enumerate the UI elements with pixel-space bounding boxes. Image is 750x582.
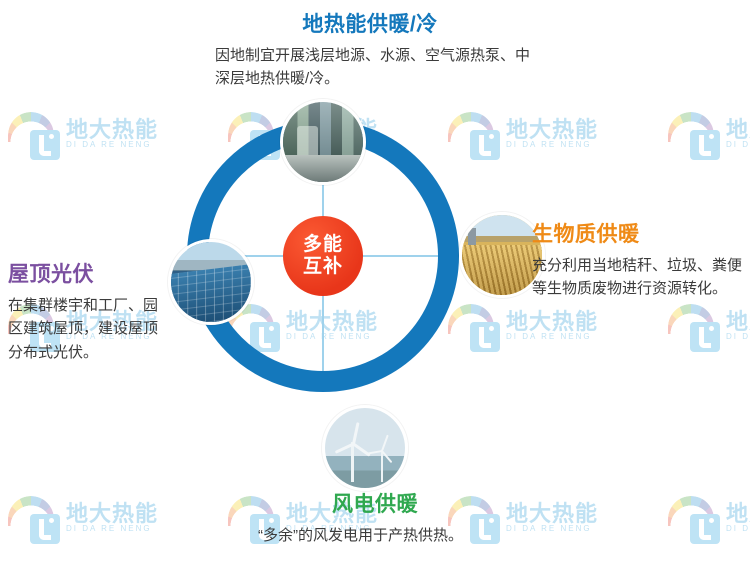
geothermal-plant-photo: [283, 102, 363, 182]
node-geothermal-photo[interactable]: [280, 99, 366, 185]
label-rooftop-pv-title: 屋顶光伏: [8, 258, 166, 288]
watermark-8: 地大热能DI DA RE NENG: [8, 492, 158, 544]
label-geothermal: 地热能供暖/冷 因地制宜开展浅层地源、水源、空气源热泵、中深层地热供暖/冷。: [205, 8, 535, 91]
watermark-cn: 地大热能: [726, 310, 750, 333]
node-wind-photo[interactable]: [322, 405, 408, 491]
watermark-3: 地大热能DI DA RE NENG: [668, 108, 750, 160]
label-wind-title: 风电供暖: [230, 488, 520, 518]
diagram-canvas: 地大热能DI DA RE NENG地大热能DI DA RE NENG地大热能DI…: [0, 0, 750, 582]
logo-icon: [8, 492, 60, 544]
logo-icon: [668, 108, 720, 160]
watermark-en: DI DA RE NENG: [506, 333, 598, 341]
label-wind: 风电供暖 “多余”的风发电用于产热供热。: [230, 488, 520, 547]
logo-icon: [668, 300, 720, 352]
watermark-cn: 地大热能: [726, 118, 750, 141]
straw-biomass-photo: [462, 215, 542, 295]
watermark-en: DI DA RE NENG: [66, 141, 158, 149]
watermark-en: DI DA RE NENG: [66, 525, 158, 533]
watermark-en: DI DA RE NENG: [726, 333, 750, 341]
watermark-en: DI DA RE NENG: [506, 141, 598, 149]
label-rooftop-pv-desc: 在集群楼宇和工厂、园区建筑屋顶，建设屋顶分布式光伏。: [8, 294, 166, 364]
center-hub-line2: 互补: [303, 256, 343, 278]
watermark-en: DI DA RE NENG: [726, 141, 750, 149]
watermark-2: 地大热能DI DA RE NENG: [448, 108, 598, 160]
label-biomass: 生物质供暖 充分利用当地秸秆、垃圾、粪便等生物质废物进行资源转化。: [532, 218, 744, 301]
center-hub-line1: 多能: [303, 234, 343, 256]
watermark-cn: 地大热能: [506, 310, 598, 333]
wind-turbines-photo: [325, 408, 405, 488]
label-geothermal-desc: 因地制宜开展浅层地源、水源、空气源热泵、中深层地热供暖/冷。: [205, 44, 535, 91]
watermark-cn: 地大热能: [726, 502, 750, 525]
label-wind-desc: “多余”的风发电用于产热供热。: [230, 524, 520, 547]
watermark-0: 地大热能DI DA RE NENG: [8, 108, 158, 160]
label-geothermal-title: 地热能供暖/冷: [205, 8, 535, 38]
watermark-en: DI DA RE NENG: [726, 525, 750, 533]
logo-icon: [448, 300, 500, 352]
label-biomass-title: 生物质供暖: [532, 218, 744, 248]
logo-icon: [668, 492, 720, 544]
watermark-11: 地大热能DI DA RE NENG: [668, 492, 750, 544]
watermark-cn: 地大热能: [506, 118, 598, 141]
center-hub: 多能 互补: [283, 216, 363, 296]
label-rooftop-pv: 屋顶光伏 在集群楼宇和工厂、园区建筑屋顶，建设屋顶分布式光伏。: [8, 258, 166, 364]
logo-icon: [8, 108, 60, 160]
node-rooftop-pv-photo[interactable]: [168, 239, 254, 325]
watermark-7: 地大热能DI DA RE NENG: [668, 300, 750, 352]
logo-icon: [448, 108, 500, 160]
rooftop-solar-panels-photo: [171, 242, 251, 322]
watermark-cn: 地大热能: [66, 502, 158, 525]
label-biomass-desc: 充分利用当地秸秆、垃圾、粪便等生物质废物进行资源转化。: [532, 254, 744, 301]
watermark-cn: 地大热能: [66, 118, 158, 141]
watermark-6: 地大热能DI DA RE NENG: [448, 300, 598, 352]
